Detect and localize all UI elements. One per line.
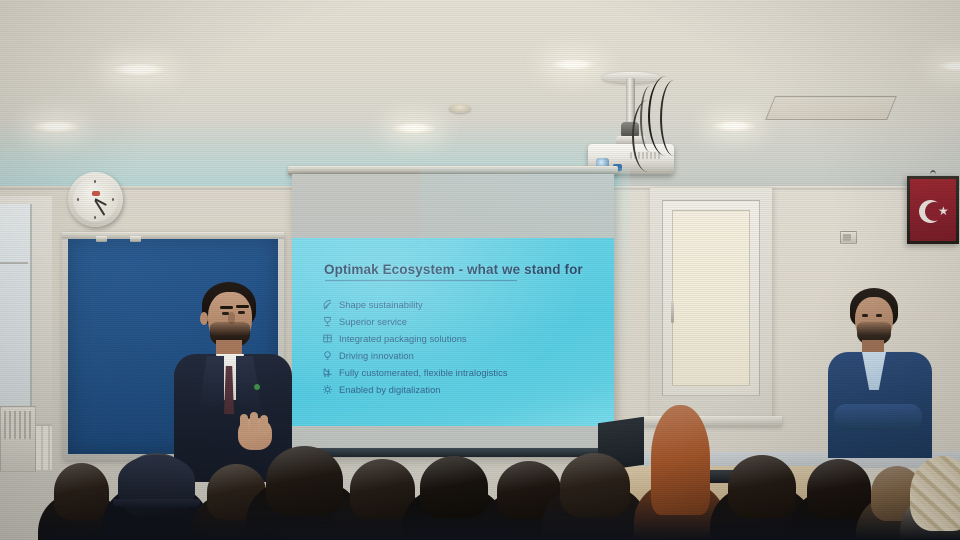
audience-head-13 [906,448,960,540]
classroom-photo-scene: Optimak Ecosystem - what we stand for Sh… [0,0,960,540]
baseball-cap [118,455,195,505]
audience-hair [420,456,488,518]
headscarf [910,456,960,531]
audience-hair [651,405,710,515]
audience-hair [728,455,796,518]
audience-hair [54,463,109,520]
audience-head-2 [108,436,204,540]
audience [0,0,960,540]
audience-head-9 [640,428,720,540]
audience-hair [266,446,343,515]
audience-hair [560,453,630,517]
cap-brim [113,499,200,509]
audience-head-8 [548,436,642,540]
